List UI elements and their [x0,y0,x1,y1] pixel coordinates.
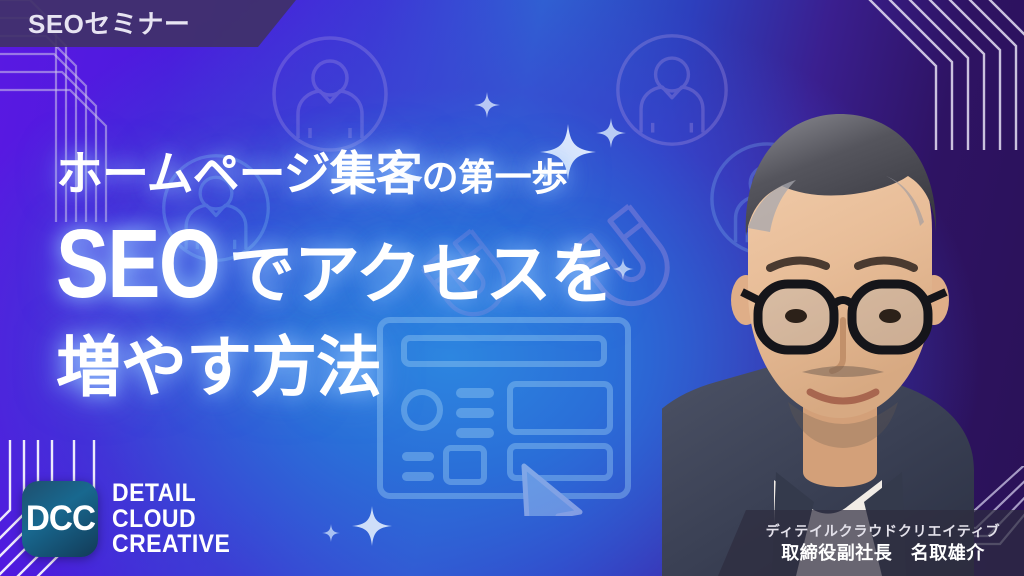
sparkle-icon [596,118,626,148]
headline-seo-emphasis: SEO [56,215,219,312]
logo-wordmark-line-1: DETAIL [112,481,230,507]
logo-wordmark-line-3: CREATIVE [112,532,230,558]
speaker-company: ディテイルクラウドクリエイティブ [766,521,1001,541]
seminar-banner: SEOセミナー ホームページ集客 の第一歩 SEO でアクセスを 増やす方法 [0,0,1024,576]
logo-badge-text: DCC [25,499,94,539]
headline-line-3: 増やす方法 [56,334,756,400]
seminar-tag: SEOセミナー [0,0,296,47]
logo-badge: DCC [22,481,98,557]
logo-wordmark: DETAIL CLOUD CREATIVE [112,481,241,558]
person-icon [270,34,390,154]
sparkle-icon [352,506,392,546]
logo-wordmark-line-2: CLOUD [112,507,230,533]
speaker-name: 取締役副社長 名取雄介 [781,541,985,565]
headline-line-1: ホームページ集客 の第一歩 [56,150,756,197]
headline-line-2: SEO でアクセスを [56,215,756,312]
headline-line-1-sub: の第一歩 [422,159,568,196]
brand-logo: DCC DETAIL CLOUD CREATIVE [22,481,241,558]
sparkle-icon [474,92,500,118]
seminar-tag-label: SEOセミナー [28,11,190,37]
speaker-portrait [662,0,1024,576]
headline-line-1-main: ホームページ集客 [56,150,422,197]
speaker-name-plate: ディテイルクラウドクリエイティブ 取締役副社長 名取雄介 [718,510,1024,576]
headline-line-2-rest: でアクセスを [229,241,616,307]
headline-block: ホームページ集客 の第一歩 SEO でアクセスを 増やす方法 [56,150,756,400]
sparkle-icon [322,524,340,542]
